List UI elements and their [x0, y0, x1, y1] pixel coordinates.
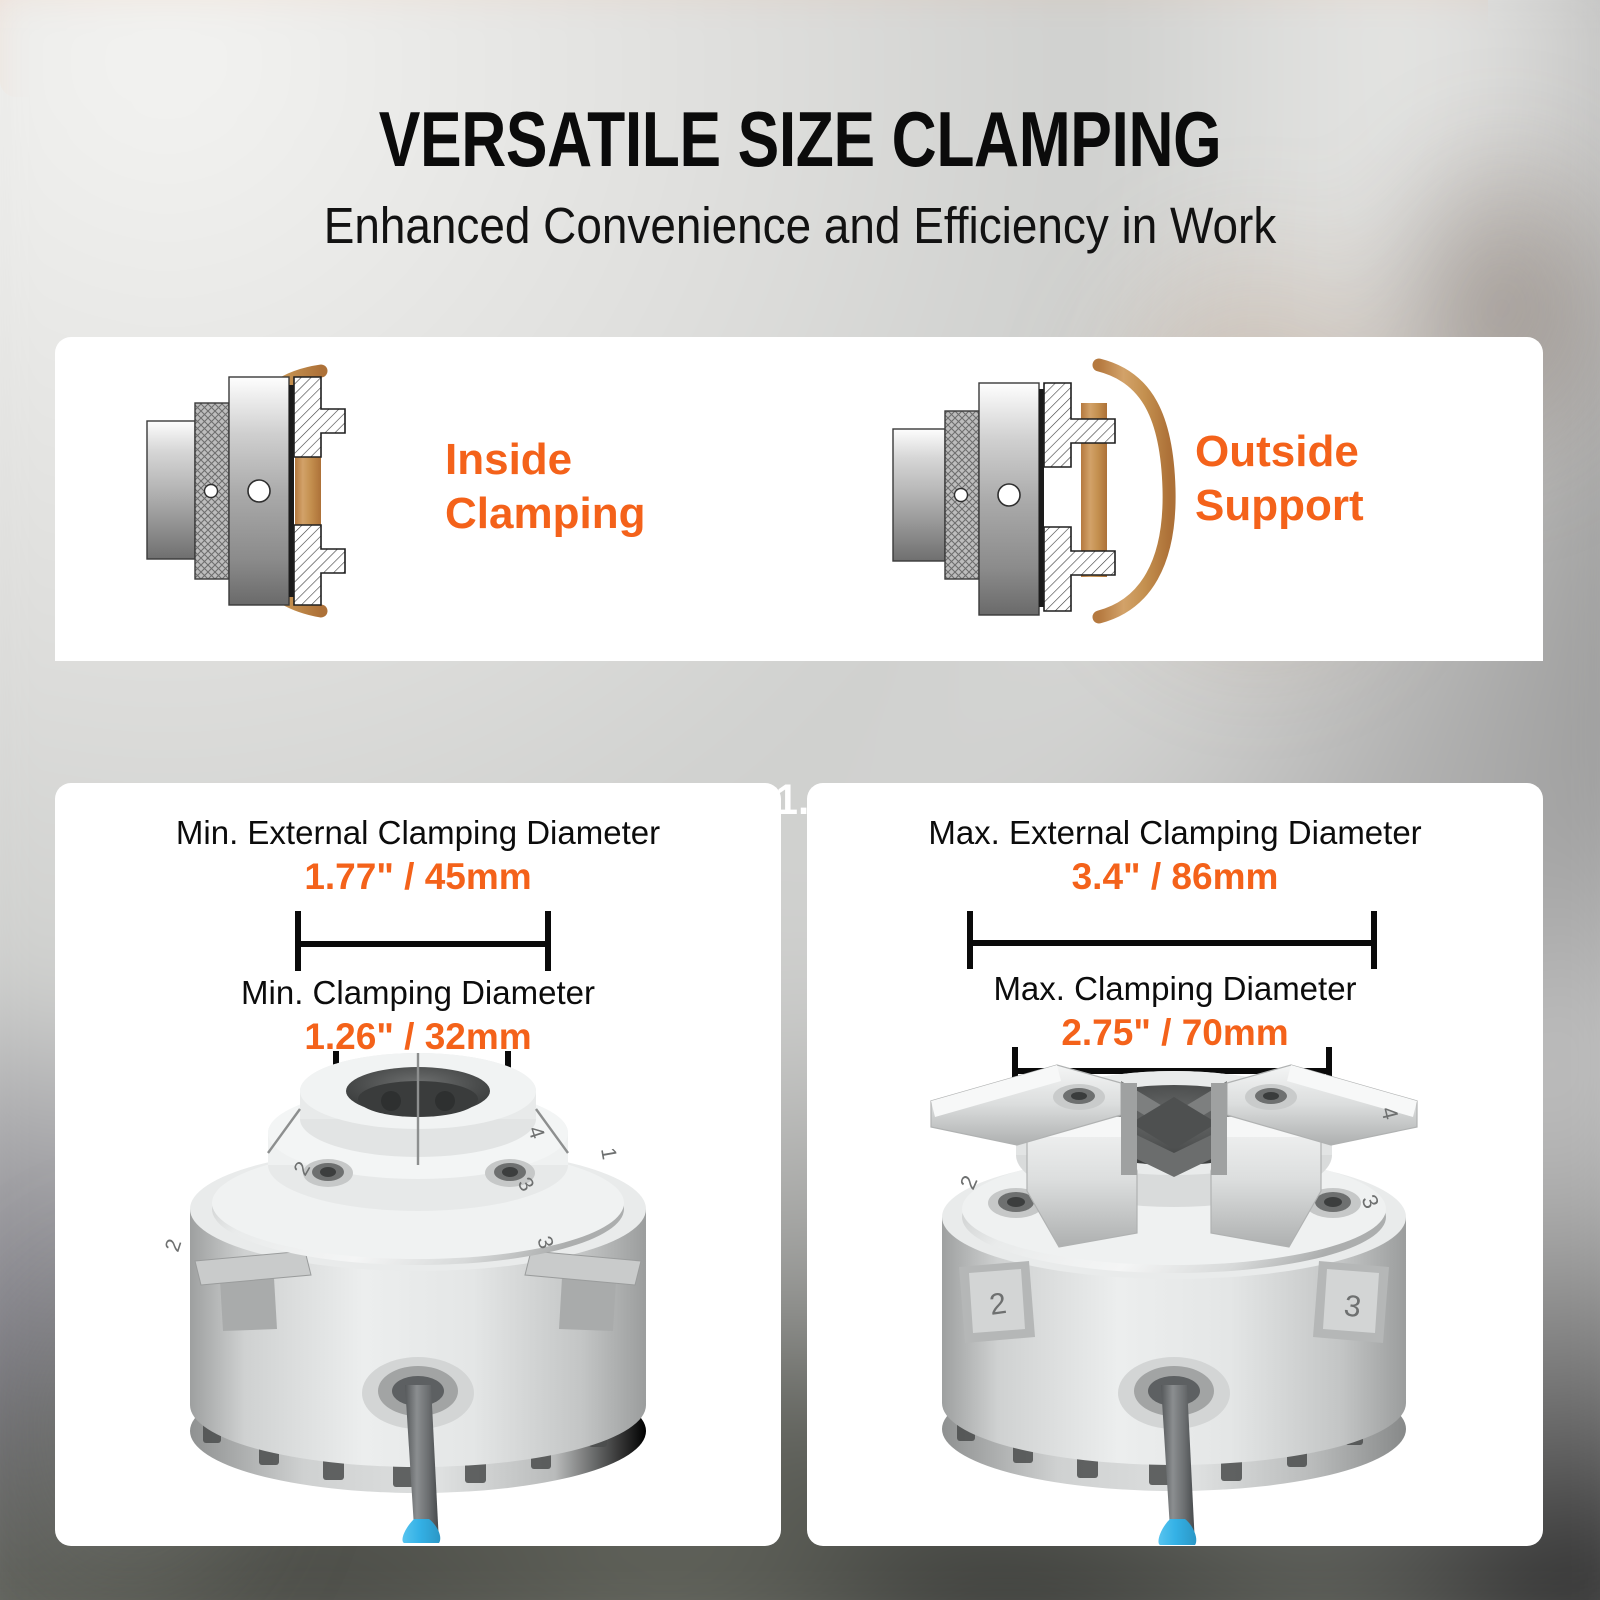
min-outer-dim-name: Min. External Clamping Diameter [55, 813, 781, 853]
four-jaw-chuck-jaws-closed: 2 2 3 3 4 1 [73, 1013, 763, 1548]
min-outer-dim-value: 1.77" / 45mm [55, 855, 781, 899]
bracket-bar [295, 941, 551, 947]
max-outer-dim-name: Max. External Clamping Diameter [807, 813, 1543, 853]
min-clamping-card: Min. External Clamping Diameter 1.77" / … [55, 783, 781, 1546]
svg-text:1: 1 [596, 1146, 621, 1162]
max-clamping-card: Max. External Clamping Diameter 3.4" / 8… [807, 783, 1543, 1546]
min-outer-dim-bracket [295, 911, 551, 971]
svg-text:2: 2 [955, 1172, 983, 1193]
max-outer-dim-value: 3.4" / 86mm [807, 855, 1543, 899]
bracket-bar [967, 940, 1377, 946]
svg-text:2: 2 [161, 1236, 186, 1254]
min-outer-dim-labels: Min. External Clamping Diameter 1.77" / … [55, 813, 781, 899]
clamping-range-band: Clamping Range: 1.26-3.4" (32-86 mm) [0, 0, 1488, 97]
min-inner-dim-name: Min. Clamping Diameter [55, 973, 781, 1013]
max-outer-dim-labels: Max. External Clamping Diameter 3.4" / 8… [807, 813, 1543, 899]
max-outer-dim-bracket [967, 911, 1377, 969]
four-jaw-chuck-jaws-open: 2 3 2 3 [821, 1005, 1527, 1550]
max-inner-dim-name: Max. Clamping Diameter [807, 969, 1543, 1009]
